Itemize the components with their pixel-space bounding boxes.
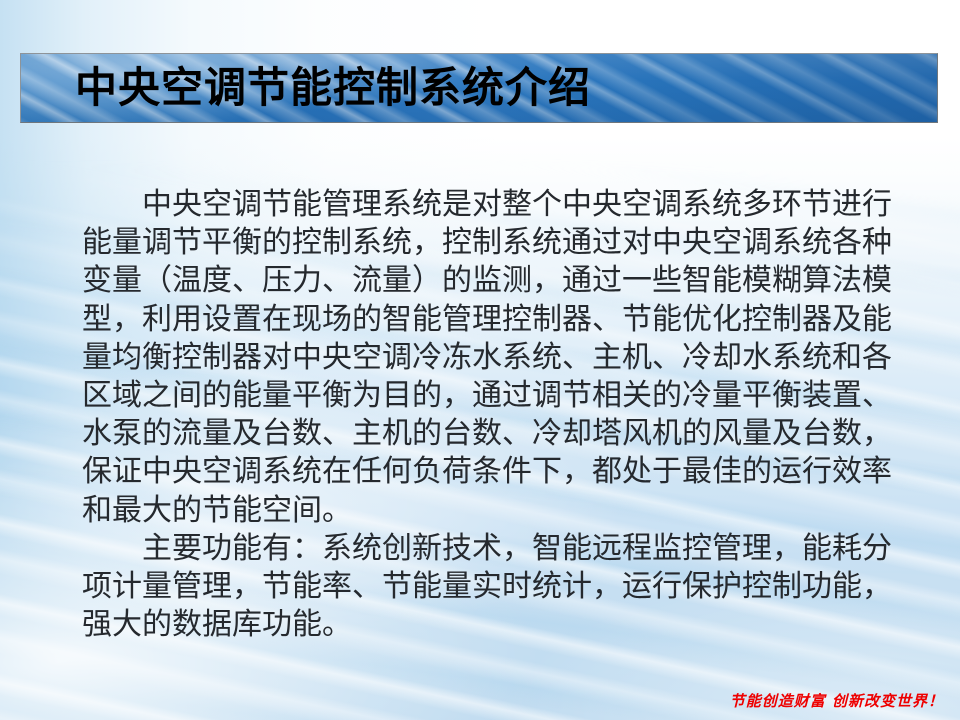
footer-slogan: 节能创造财富 创新改变世界！ <box>730 690 944 711</box>
slide-title: 中央空调节能控制系统介绍 <box>21 54 937 122</box>
body-paragraph-2: 主要功能有：系统创新技术，智能远程监控管理，能耗分项计量管理，节能率、节能量实时… <box>82 530 892 645</box>
body-paragraph-1: 中央空调节能管理系统是对整个中央空调系统多环节进行能量调节平衡的控制系统，控制系… <box>82 186 892 530</box>
slide-title-bar: 中央空调节能控制系统介绍 <box>20 53 938 123</box>
slide-body-text: 中央空调节能管理系统是对整个中央空调系统多环节进行能量调节平衡的控制系统，控制系… <box>82 186 892 644</box>
presentation-slide: 中央空调节能控制系统介绍 中央空调节能管理系统是对整个中央空调系统多环节进行能量… <box>0 0 960 720</box>
